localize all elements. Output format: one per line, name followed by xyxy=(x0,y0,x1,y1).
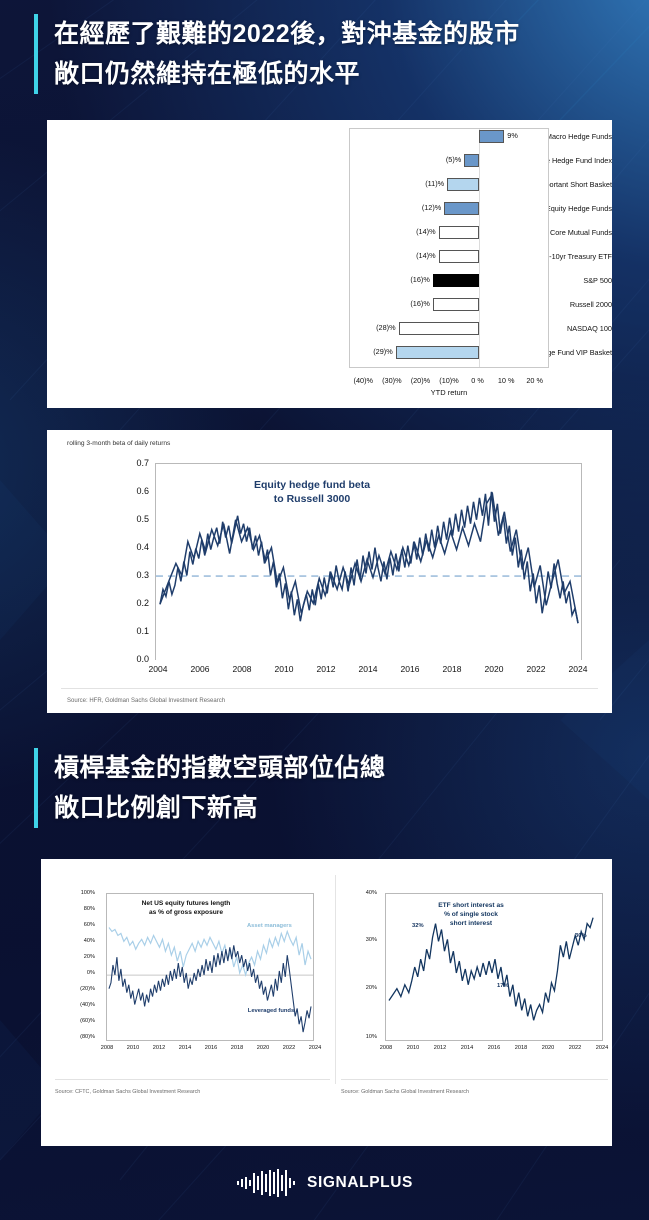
headline-block-1: 在經歷了艱難的2022後，對沖基金的股市 敞口仍然維持在極低的水平 xyxy=(34,14,520,94)
chart-source: Source: HFR, Goldman Sachs Global Invest… xyxy=(67,698,225,704)
y-axis-tick: 0.5 xyxy=(125,514,149,524)
zero-axis-line xyxy=(479,129,480,367)
x-axis-tick: 2008 xyxy=(374,1045,398,1051)
x-axis-tick: 2014 xyxy=(455,1045,479,1051)
y-axis-tick: 0.3 xyxy=(125,570,149,580)
bar-russell-2000 xyxy=(433,298,479,311)
chart-title: ETF short interest as % of single stock … xyxy=(413,901,529,928)
y-axis-tick: 30% xyxy=(351,937,377,943)
headline-1-line-2: 敞口仍然維持在極低的水平 xyxy=(54,54,520,94)
x-axis-tick: 2012 xyxy=(147,1045,171,1051)
x-axis-tick: 2004 xyxy=(141,664,175,674)
chart-card-positioning-pair: 100% 80% 60% 40% 20% 0% (20)% (40)% (60)… xyxy=(41,859,612,1146)
y-axis-tick: 0.1 xyxy=(125,626,149,636)
x-axis-tick: 2012 xyxy=(428,1045,452,1051)
bar-chart-plot-area xyxy=(349,128,549,368)
chart-title-line-1: Net US equity futures length xyxy=(111,899,261,908)
x-axis-tick: 2020 xyxy=(477,664,511,674)
footer-brand: SIGNALPLUS xyxy=(0,1168,649,1198)
bar-value-label: (14)% xyxy=(412,227,436,236)
etf-short-interest-chart: 40% 30% 20% 10% ETF short interest as % … xyxy=(337,871,612,1111)
y-axis-tick: 0.6 xyxy=(125,486,149,496)
bar-equity-hedge-funds xyxy=(444,202,478,215)
y-axis-tick: (80)% xyxy=(69,1034,95,1040)
panel-divider xyxy=(341,1079,608,1080)
card-divider xyxy=(61,688,598,689)
series-label-leveraged-funds: Leveraged funds xyxy=(245,1007,297,1015)
annotation-17-percent: 17% xyxy=(497,983,509,989)
bar-value-label: (5)% xyxy=(437,155,461,164)
x-axis-tick: 2022 xyxy=(519,664,553,674)
y-axis-tick: 20% xyxy=(351,985,377,991)
y-axis-tick: 100% xyxy=(69,890,95,896)
bar-nasdaq-100 xyxy=(399,322,479,335)
x-axis-tick: 2018 xyxy=(225,1045,249,1051)
headline-block-2: 槓桿基金的指數空頭部位佔總 敞口比例創下新高 xyxy=(34,748,386,828)
y-axis-tick: 10% xyxy=(351,1034,377,1040)
y-axis-tick: 0.2 xyxy=(125,598,149,608)
bar-value-label: (12)% xyxy=(417,203,441,212)
x-axis-tick: 2006 xyxy=(183,664,217,674)
net-equity-futures-chart: 100% 80% 60% 40% 20% 0% (20)% (40)% (60)… xyxy=(51,871,334,1111)
chart-title-line-1: Equity hedge fund beta xyxy=(197,478,427,492)
chart-source: Source: CFTC, Goldman Sachs Global Inves… xyxy=(55,1089,200,1095)
y-axis-tick: 40% xyxy=(351,890,377,896)
y-axis-tick: 0.7 xyxy=(125,458,149,468)
chart-title-line-2: as % of gross exposure xyxy=(111,908,261,917)
chart-title-line-2: % of single stock xyxy=(413,910,529,919)
y-axis-tick: 0% xyxy=(69,970,95,976)
x-axis-tick: 2010 xyxy=(267,664,301,674)
bar-sp-500 xyxy=(433,274,479,287)
annotation-30-percent: 30% xyxy=(575,933,587,939)
waveform-icon xyxy=(236,1168,298,1198)
bar-value-label: (16)% xyxy=(406,275,430,284)
x-axis-tick: 2010 xyxy=(121,1045,145,1051)
x-axis-tick: 2020 xyxy=(251,1045,275,1051)
x-axis-tick: 2008 xyxy=(225,664,259,674)
panel-divider xyxy=(335,875,336,1084)
x-axis-tick: 2024 xyxy=(303,1045,327,1051)
y-axis-tick: 60% xyxy=(69,922,95,928)
x-axis-title: YTD return xyxy=(349,388,549,397)
ytd-return-bar-chart: Global Macro Hedge Funds Composite Hedge… xyxy=(47,120,612,408)
y-axis-tick: 0.0 xyxy=(125,654,149,664)
x-axis-tick: 2018 xyxy=(435,664,469,674)
series-label-asset-managers: Asset managers xyxy=(247,923,292,929)
bar-value-label: (29)% xyxy=(369,347,393,356)
x-axis-tick: 20 % xyxy=(518,376,552,385)
panel-divider xyxy=(55,1079,330,1080)
y-axis-tick: 0.4 xyxy=(125,542,149,552)
x-axis-tick: 2010 xyxy=(401,1045,425,1051)
y-axis-tick: (20)% xyxy=(69,986,95,992)
headline-2-line-1: 槓桿基金的指數空頭部位佔總 xyxy=(54,748,386,788)
x-axis-tick: 2016 xyxy=(393,664,427,674)
x-axis-tick: 2016 xyxy=(482,1045,506,1051)
chart-title: Equity hedge fund beta to Russell 3000 xyxy=(197,478,427,506)
x-axis-tick: 2014 xyxy=(173,1045,197,1051)
bar-value-label: 9% xyxy=(507,131,518,140)
bar-value-label: (11)% xyxy=(420,179,444,188)
x-axis-tick: 2024 xyxy=(561,664,595,674)
bar-large-cap-core-mutual-funds xyxy=(439,226,479,239)
annotation-32-percent: 32% xyxy=(412,923,424,929)
chart-title-line-3: short interest xyxy=(413,919,529,928)
x-axis-tick: 2018 xyxy=(509,1045,533,1051)
headline-2-line-2: 敞口比例創下新高 xyxy=(54,788,386,828)
x-axis-tick: 2014 xyxy=(351,664,385,674)
x-axis-tick: 2022 xyxy=(277,1045,301,1051)
chart-card-equity-hedge-fund-beta: rolling 3-month beta of daily returns 0.… xyxy=(47,430,612,713)
y-axis-tick: 80% xyxy=(69,906,95,912)
y-axis-tick: (40)% xyxy=(69,1002,95,1008)
x-axis-tick: 2020 xyxy=(536,1045,560,1051)
y-axis-tick: 40% xyxy=(69,938,95,944)
bar-very-important-short-basket xyxy=(447,178,478,191)
x-axis-tick: 2016 xyxy=(199,1045,223,1051)
bar-ishares-treasury-etf xyxy=(439,250,479,263)
bar-value-label: (16)% xyxy=(406,299,430,308)
bar-hedge-fund-vip-basket xyxy=(396,346,479,359)
bar-value-label: (28)% xyxy=(372,323,396,332)
x-axis-tick: 2024 xyxy=(590,1045,614,1051)
chart-title-line-1: ETF short interest as xyxy=(413,901,529,910)
y-axis-tick: (60)% xyxy=(69,1018,95,1024)
chart-title-line-2: to Russell 3000 xyxy=(197,492,427,506)
brand-name: SIGNALPLUS xyxy=(307,1174,413,1192)
chart-title: Net US equity futures length as % of gro… xyxy=(111,899,261,917)
bar-value-label: (14)% xyxy=(412,251,436,260)
chart-subtitle: rolling 3-month beta of daily returns xyxy=(67,440,170,447)
chart-card-ytd-return: Global Macro Hedge Funds Composite Hedge… xyxy=(47,120,612,408)
chart-source: Source: Goldman Sachs Global Investment … xyxy=(341,1089,469,1095)
headline-1-line-1: 在經歷了艱難的2022後，對沖基金的股市 xyxy=(54,14,520,54)
bar-global-macro-hedge-funds xyxy=(479,130,505,143)
x-axis-tick: 2012 xyxy=(309,664,343,674)
bar-composite-hedge-fund-index xyxy=(464,154,478,167)
y-axis-tick: 20% xyxy=(69,954,95,960)
x-axis-tick: 2008 xyxy=(95,1045,119,1051)
x-axis-tick: 2022 xyxy=(563,1045,587,1051)
